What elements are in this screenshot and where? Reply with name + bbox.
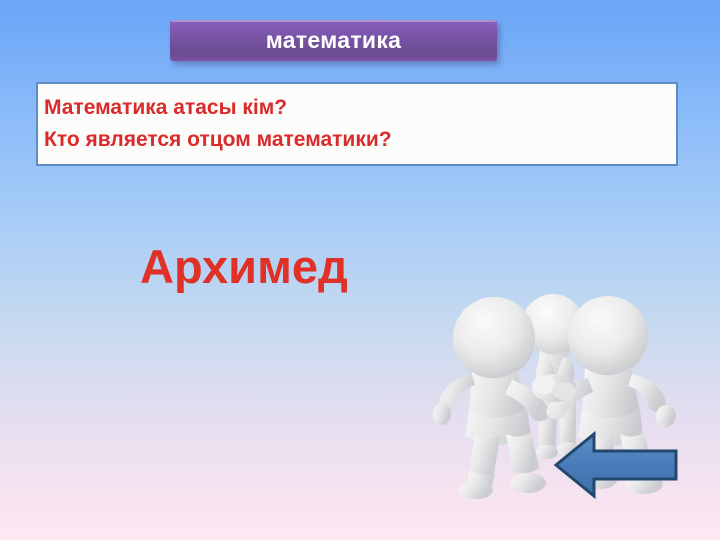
answer-text: Архимед: [140, 243, 348, 290]
left-figure: [433, 297, 550, 499]
left-pointing-arrow: [554, 428, 678, 502]
question-line-kazakh: Математика атасы кім?: [44, 92, 676, 124]
question-box: Математика атасы кім? Кто является отцом…: [36, 82, 678, 166]
slide-canvas: математика Математика атасы кім? Кто явл…: [0, 0, 720, 540]
question-line-russian: Кто является отцом математики?: [44, 124, 676, 156]
page-title: математика: [266, 29, 401, 52]
hand-clasp: [532, 374, 576, 402]
title-banner: математика: [170, 20, 497, 61]
